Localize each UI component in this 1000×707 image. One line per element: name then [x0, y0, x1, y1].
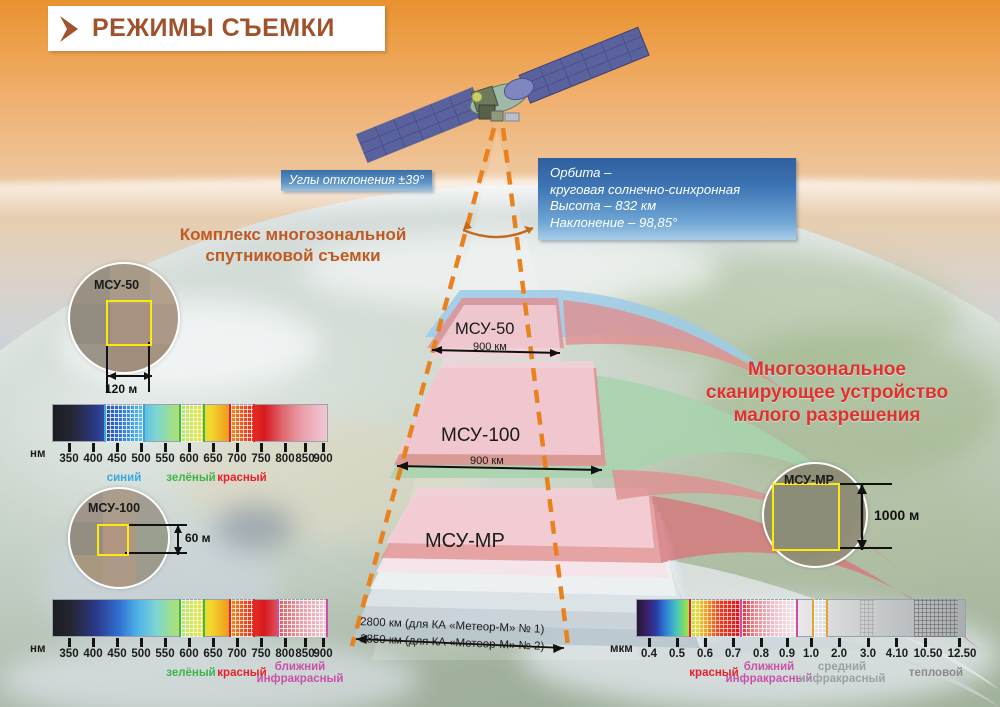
- band-hatch-thermal: [914, 599, 958, 637]
- tick-label: 400: [83, 648, 102, 660]
- deviation-angles-box: Углы отклонения ±39°: [281, 170, 432, 191]
- tick-label: 850: [295, 648, 314, 660]
- tick-label: 0.7: [725, 648, 741, 660]
- tick-label: 0.4: [641, 648, 657, 660]
- heading-left-line-2: спутниковой съемки: [143, 245, 443, 266]
- swath-width-msu-50: 900 км: [473, 341, 507, 353]
- band-hatch-red: [691, 599, 740, 637]
- tick-label: 1.0: [803, 648, 819, 660]
- band-divider: [326, 599, 328, 637]
- band-label-green: зелёный: [166, 472, 216, 484]
- tick-label: 0.6: [697, 648, 713, 660]
- band-divider: [203, 599, 205, 637]
- band-divider: [253, 599, 255, 637]
- band-label-mir-line2: инфракрасный: [799, 673, 886, 685]
- tick-label: 750: [251, 648, 270, 660]
- band-hatch-red: [231, 404, 253, 442]
- band-hatch-blue: [106, 404, 143, 442]
- band-label-green: зелёный: [166, 667, 216, 679]
- tick-label: 600: [179, 648, 198, 660]
- band-divider: [253, 404, 255, 442]
- band-label-nir-line1: ближний: [744, 661, 794, 673]
- tick-label: 3.0: [860, 648, 876, 660]
- heading-left-line-1: Комплекс многозональной: [143, 224, 443, 245]
- band-hatch-mir-2: [860, 599, 874, 637]
- spectrum-unit-label: мкм: [610, 643, 633, 655]
- sensor-pixel-box-msu-50: [106, 300, 152, 346]
- orbit-line-4: Наклонение – 98,85°: [550, 215, 786, 232]
- tick-label: 550: [155, 648, 174, 660]
- band-label-mir: средний инфракрасный: [799, 661, 886, 685]
- heading-right-line-3: малого разрешения: [662, 404, 992, 427]
- tick-label: 800: [275, 453, 294, 465]
- tick-label: 600: [179, 453, 198, 465]
- band-hatch-green: [181, 404, 203, 442]
- infographic-canvas: МСУ-50 900 км МСУ-100 900 км МСУ-МР 2800…: [0, 0, 1000, 707]
- heading-right-line-1: Многозональное: [662, 358, 992, 381]
- orbit-info-box: Орбита – круговая солнечно-синхронная Вы…: [538, 158, 796, 240]
- sensor-pixel-box-msu-100: [97, 524, 129, 556]
- measure-guide-right: [148, 342, 150, 392]
- tick-label: 12.50: [948, 648, 977, 660]
- swath-label-msu-50: МСУ-50: [455, 320, 514, 339]
- tick-label: 500: [131, 453, 150, 465]
- heading-right: Многозональное сканирующее устройство ма…: [662, 358, 992, 427]
- tick-label: 4.10: [886, 648, 908, 660]
- swath-label-msu-mr: МСУ-МР: [425, 530, 505, 553]
- tick-label: 700: [227, 648, 246, 660]
- tick-label: 900: [313, 648, 332, 660]
- band-divider: [826, 599, 828, 637]
- tick-label: 900: [313, 453, 332, 465]
- swath-label-msu-100: МСУ-100: [441, 425, 520, 447]
- sensor-resolution-msu-100: 60 м: [185, 531, 211, 545]
- heading-right-line-2: сканирующее устройство: [662, 381, 992, 404]
- tick-label: 700: [227, 453, 246, 465]
- tick-label: 0.8: [753, 648, 769, 660]
- band-label-nir-line2: инфракрасный: [257, 673, 344, 685]
- tick-label: 400: [83, 453, 102, 465]
- tick-label: 350: [59, 453, 78, 465]
- spectrum-unit-label: нм: [30, 643, 45, 655]
- band-label-blue: синий: [107, 472, 142, 484]
- band-hatch-mir: [814, 599, 826, 637]
- tick-label: 650: [203, 648, 222, 660]
- tick-label: 850: [295, 453, 314, 465]
- orbit-line-3: Высота – 832 км: [550, 198, 786, 215]
- band-hatch-nir: [279, 599, 326, 637]
- sensor-label-msu-50: МСУ-50: [94, 278, 139, 292]
- tick-label: 0.9: [779, 648, 795, 660]
- orbit-line-2: круговая солнечно-синхронная: [550, 182, 786, 199]
- band-divider: [796, 599, 798, 637]
- sensor-resolution-msu-50: 120 м: [105, 382, 137, 396]
- sensor-label-msu-mr: МСУ-МР: [784, 473, 834, 487]
- band-label-red: красный: [217, 472, 266, 484]
- tick-label: 450: [107, 648, 126, 660]
- meteor-m-satellite-icon: [357, 27, 650, 162]
- tick-label: 450: [107, 453, 126, 465]
- swath-width-msu-100: 900 км: [470, 455, 504, 467]
- page-title: РЕЖИМЫ СЪЕМКИ: [92, 14, 335, 43]
- tick-label: 500: [131, 648, 150, 660]
- spectrum-unit-label: нм: [30, 448, 45, 460]
- band-hatch-red: [231, 599, 253, 637]
- tick-label: 2.0: [831, 648, 847, 660]
- tick-label: 10.50: [914, 648, 943, 660]
- title-banner: РЕЖИМЫ СЪЕМКИ: [48, 6, 385, 51]
- deviation-angles-text: Углы отклонения ±39°: [289, 173, 424, 187]
- chevron-right-icon: [48, 6, 92, 51]
- tick-label: 550: [155, 453, 174, 465]
- band-hatch-nir: [742, 599, 796, 637]
- tick-label: 350: [59, 648, 78, 660]
- tick-label: 0.5: [669, 648, 685, 660]
- sensor-label-msu-100: МСУ-100: [88, 501, 140, 515]
- tick-label: 800: [275, 648, 294, 660]
- band-label-thermal: тепловой: [909, 667, 963, 679]
- band-label-mir-line1: средний: [818, 661, 866, 673]
- measure-arrow-msu-100: [170, 518, 186, 562]
- heading-left: Комплекс многозональной спутниковой съем…: [143, 224, 443, 266]
- band-divider: [203, 404, 205, 442]
- sensor-pixel-box-msu-mr: [772, 483, 840, 551]
- sensor-resolution-msu-mr: 1000 м: [874, 507, 919, 523]
- band-label-nir-line1: ближний: [275, 661, 325, 673]
- band-divider: [143, 404, 145, 442]
- tick-label: 650: [203, 453, 222, 465]
- band-hatch-green: [181, 599, 203, 637]
- orbit-line-1: Орбита –: [550, 165, 786, 182]
- band-label-nir: ближний инфракрасный: [257, 661, 344, 685]
- tick-label: 750: [251, 453, 270, 465]
- measure-arrow-msu-mr: [854, 477, 870, 557]
